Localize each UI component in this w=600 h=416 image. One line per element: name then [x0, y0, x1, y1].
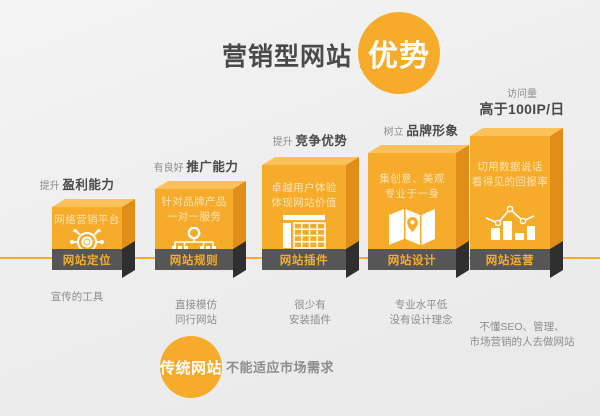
column-3-top-prefix: 提升: [273, 137, 293, 148]
column-2-desc: 针对品牌产品 一对一服务: [155, 195, 233, 225]
column-5-bottom-line-1: 不懂SEO、管理、: [452, 320, 592, 335]
column-1-label: 网站定位: [63, 252, 111, 268]
column-1-desc-line-1: 网络营销平台: [52, 213, 122, 228]
column-2-label: 网站规则: [170, 252, 218, 268]
page-title-main: 营销型网站: [222, 45, 352, 70]
traditional-site-badge-label: 传统网站: [160, 357, 222, 378]
column-3-bottom-line-1: 很少有: [248, 298, 372, 313]
column-5-bar: 切用数据说话 看得见的回报率 网站运营: [470, 136, 550, 278]
advantage-badge-label: 优势: [368, 31, 430, 75]
column-3-label: 网站插件: [280, 252, 328, 268]
column-1-top-prefix: 提升: [40, 181, 60, 192]
column-1-desc: 网络营销平台: [52, 213, 122, 228]
traditional-site-badge: 传统网站: [160, 336, 222, 398]
column-3-bottom-line-2: 安装插件: [248, 313, 372, 328]
column-1-top-label: 提升 盈利能力: [22, 178, 132, 194]
column-4-top-prefix: 树立: [384, 127, 404, 138]
column-3-label-bar: 网站插件: [262, 249, 346, 270]
map-pin-icon: [387, 206, 437, 246]
column-5-label-bar: 网站运营: [470, 249, 550, 270]
column-3-top-strong: 竞争优势: [295, 134, 347, 148]
column-2-top-label: 有良好 推广能力: [137, 160, 255, 176]
infographic-canvas: 营销型网站 更具 优势 提升 盈利能力 网络营销平台: [0, 0, 600, 416]
column-5-label: 网站运营: [486, 252, 534, 268]
column-3-top-label: 提升 竞争优势: [248, 134, 372, 150]
column-5-desc: 切用数据说话 看得见的回报率: [470, 160, 550, 190]
column-5-desc-line-2: 看得见的回报率: [470, 175, 550, 190]
column-1-bottom-line-1: 宣传的工具: [22, 290, 132, 305]
column-4-desc: 集创意、美观 专业于一身: [368, 172, 456, 202]
column-3-desc: 卓越用户体验 体现网站价值: [262, 181, 346, 211]
column-4-top-strong: 品牌形象: [406, 124, 458, 138]
column-4-desc-line-1: 集创意、美观: [368, 172, 456, 187]
column-2-top-prefix: 有良好: [154, 163, 184, 174]
column-2-desc-line-2: 一对一服务: [155, 210, 233, 225]
column-2-bottom-line-2: 同行网站: [137, 313, 255, 328]
column-2-bottom-caption: 直接模仿 同行网站: [137, 298, 255, 328]
column-2-bar: 针对品牌产品 一对一服务: [155, 189, 233, 278]
column-5-top-label: 访问量 高于100IP/日: [452, 88, 592, 116]
column-5-top-large: 高于100IP/日: [452, 102, 592, 116]
column-3-desc-line-1: 卓越用户体验: [262, 181, 346, 196]
column-5-bottom-caption: 不懂SEO、管理、 市场营销的人去做网站: [452, 320, 592, 350]
column-5-top-prefix: 访问量: [507, 89, 537, 100]
column-4-label-bar: 网站设计: [368, 249, 456, 270]
column-4-top-label: 树立 品牌形象: [358, 124, 484, 140]
column-3-bar: 卓越用户体验 体现网站价值: [262, 165, 346, 278]
column-4-label: 网站设计: [388, 252, 436, 268]
column-3-bottom-caption: 很少有 安装插件: [248, 298, 372, 328]
column-1-bar: 网络营销平台: [52, 207, 122, 278]
column-5-desc-line-1: 切用数据说话: [470, 160, 550, 175]
column-1-top-strong: 盈利能力: [62, 178, 114, 192]
column-5-bottom-line-2: 市场营销的人去做网站: [452, 335, 592, 350]
column-2-desc-line-1: 针对品牌产品: [155, 195, 233, 210]
column-3-desc-line-2: 体现网站价值: [262, 196, 346, 211]
advantage-badge: 优势: [358, 12, 440, 94]
column-2-top-strong: 推广能力: [186, 160, 238, 174]
traditional-site-note: 不能适应市场需求: [226, 357, 334, 376]
column-4-desc-line-2: 专业于一身: [368, 187, 456, 202]
column-4-bar: 集创意、美观 专业于一身 网站设计: [368, 153, 456, 278]
column-2-bottom-line-1: 直接模仿: [137, 298, 255, 313]
table-grid-icon: [280, 214, 328, 250]
column-4-bottom-line-1: 专业水平低: [358, 298, 484, 313]
column-2-label-bar: 网站规则: [155, 249, 233, 270]
column-1-label-bar: 网站定位: [52, 249, 122, 270]
bar-line-chart-icon: [483, 199, 537, 241]
column-1-bottom-caption: 宣传的工具: [22, 290, 132, 305]
